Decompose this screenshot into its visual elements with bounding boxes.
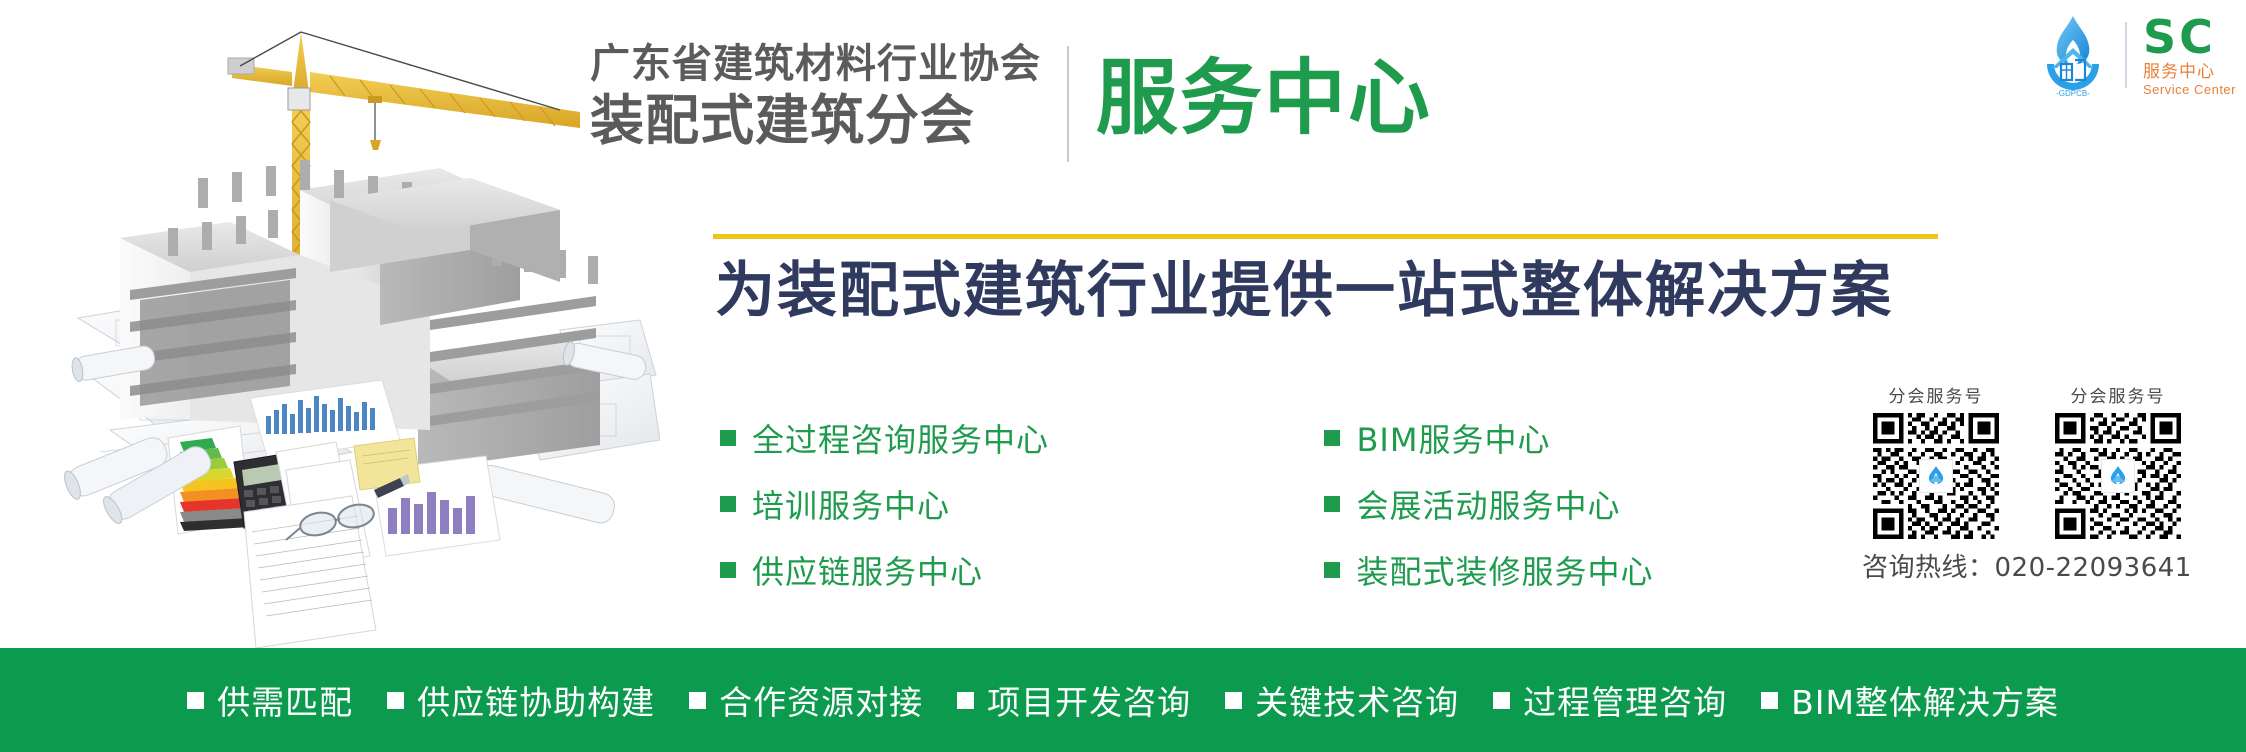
service-center-list: 全过程咨询服务中心 培训服务中心 供应链服务中心 BIM服务中心 会展活动服务中… — [720, 405, 1800, 603]
footer-item-gongxupipei[interactable]: 供需匹配 — [187, 676, 353, 724]
service-center-title: 服务中心 — [1096, 40, 1432, 158]
qr-row: 分会服务号 — [1862, 382, 2236, 539]
header-vertical-divider — [1067, 46, 1069, 162]
footer-item-list: 供需匹配 供应链协助构建 合作资源对接 项目开发咨询 关键技术咨询 过程管理咨询 — [187, 676, 2059, 724]
qr-code-image[interactable] — [1873, 413, 1999, 539]
qr-center-logo-icon — [2101, 459, 2135, 493]
square-bullet-icon — [1225, 692, 1242, 709]
square-bullet-icon — [720, 562, 736, 578]
square-bullet-icon — [187, 692, 204, 709]
footer-item-label: BIM整体解决方案 — [1791, 676, 2059, 724]
service-item-gongyinglian[interactable]: 供应链服务中心 — [720, 537, 1320, 603]
service-item-huizhan[interactable]: 会展活动服务中心 — [1324, 471, 1784, 537]
footer-item-guochengguanli[interactable]: 过程管理咨询 — [1493, 676, 1727, 724]
logo-vertical-divider — [2125, 22, 2127, 88]
qr-code-branch-service-2[interactable]: 分会服务号 — [2044, 382, 2192, 539]
promo-banner: 广东省建筑材料行业协会 装配式建筑分会 服务中心 为装配式建筑行业提供一站式整体… — [0, 0, 2246, 752]
service-item-quanguocheng[interactable]: 全过程咨询服务中心 — [720, 405, 1320, 471]
square-bullet-icon — [1324, 496, 1340, 512]
footer-item-xiangmukaifa[interactable]: 项目开发咨询 — [957, 676, 1191, 724]
service-item-bim[interactable]: BIM服务中心 — [1324, 405, 1784, 471]
sc-lockup: SC 服务中心 Service Center — [2143, 14, 2236, 97]
qr-center-logo-icon — [1919, 459, 1953, 493]
sticky-note — [354, 438, 420, 490]
footer-item-gongyinglianxiezhu[interactable]: 供应链协助构建 — [387, 676, 655, 724]
square-bullet-icon — [1324, 430, 1340, 446]
square-bullet-icon — [957, 692, 974, 709]
footer-item-bim-solution[interactable]: BIM整体解决方案 — [1761, 676, 2059, 724]
association-name-line1: 广东省建筑材料行业协会 — [590, 40, 1041, 88]
footer-services-bar: 供需匹配 供应链协助构建 合作资源对接 项目开发咨询 关键技术咨询 过程管理咨询 — [0, 648, 2246, 752]
service-item-label: BIM服务中心 — [1356, 415, 1550, 461]
qr-code-branch-service-1[interactable]: 分会服务号 — [1862, 382, 2010, 539]
service-item-label: 全过程咨询服务中心 — [752, 415, 1049, 461]
square-bullet-icon — [1761, 692, 1778, 709]
footer-item-guanjianjishu[interactable]: 关键技术咨询 — [1225, 676, 1459, 724]
sc-letters: SC — [2143, 14, 2236, 60]
gdpcb-house-flame-icon: -GDPCB- — [2037, 12, 2109, 98]
association-name-line2: 装配式建筑分会 — [590, 90, 1041, 152]
qr-caption: 分会服务号 — [2044, 382, 2192, 407]
sc-english-label: Service Center — [2143, 82, 2236, 97]
service-list-left: 全过程咨询服务中心 培训服务中心 供应链服务中心 — [720, 405, 1320, 603]
construction-site-3d-illustration — [0, 0, 660, 650]
header-block: 广东省建筑材料行业协会 装配式建筑分会 服务中心 — [590, 40, 1432, 162]
main-headline: 为装配式建筑行业提供一站式整体解决方案 — [715, 252, 1893, 330]
footer-item-label: 供需匹配 — [217, 676, 353, 724]
square-bullet-icon — [1493, 692, 1510, 709]
qr-caption: 分会服务号 — [1862, 382, 2010, 407]
square-bullet-icon — [387, 692, 404, 709]
service-item-label: 装配式装修服务中心 — [1356, 547, 1653, 593]
footer-item-label: 关键技术咨询 — [1255, 676, 1459, 724]
yellow-divider-rule — [713, 234, 1938, 239]
qr-contact-block: 分会服务号 — [1862, 382, 2236, 584]
service-item-label: 会展活动服务中心 — [1356, 481, 1620, 527]
service-item-peixun[interactable]: 培训服务中心 — [720, 471, 1320, 537]
square-bullet-icon — [720, 430, 736, 446]
svg-text:-GDPCB-: -GDPCB- — [2056, 89, 2090, 98]
service-item-zhuangxiu[interactable]: 装配式装修服务中心 — [1324, 537, 1784, 603]
service-item-label: 供应链服务中心 — [752, 547, 983, 593]
footer-item-label: 合作资源对接 — [719, 676, 923, 724]
square-bullet-icon — [689, 692, 706, 709]
footer-item-label: 过程管理咨询 — [1523, 676, 1727, 724]
footer-item-label: 供应链协助构建 — [417, 676, 655, 724]
footer-item-hezuoziyuan[interactable]: 合作资源对接 — [689, 676, 923, 724]
qr-code-image[interactable] — [2055, 413, 2181, 539]
square-bullet-icon — [720, 496, 736, 512]
service-list-right: BIM服务中心 会展活动服务中心 装配式装修服务中心 — [1324, 405, 1784, 603]
hotline-text: 咨询热线：020-22093641 — [1862, 547, 2236, 584]
sc-chinese-label: 服务中心 — [2143, 62, 2236, 82]
association-name: 广东省建筑材料行业协会 装配式建筑分会 — [590, 40, 1041, 152]
service-item-label: 培训服务中心 — [752, 481, 950, 527]
footer-item-label: 项目开发咨询 — [987, 676, 1191, 724]
square-bullet-icon — [1324, 562, 1340, 578]
brand-logo: -GDPCB- SC 服务中心 Service Center — [2037, 12, 2236, 98]
